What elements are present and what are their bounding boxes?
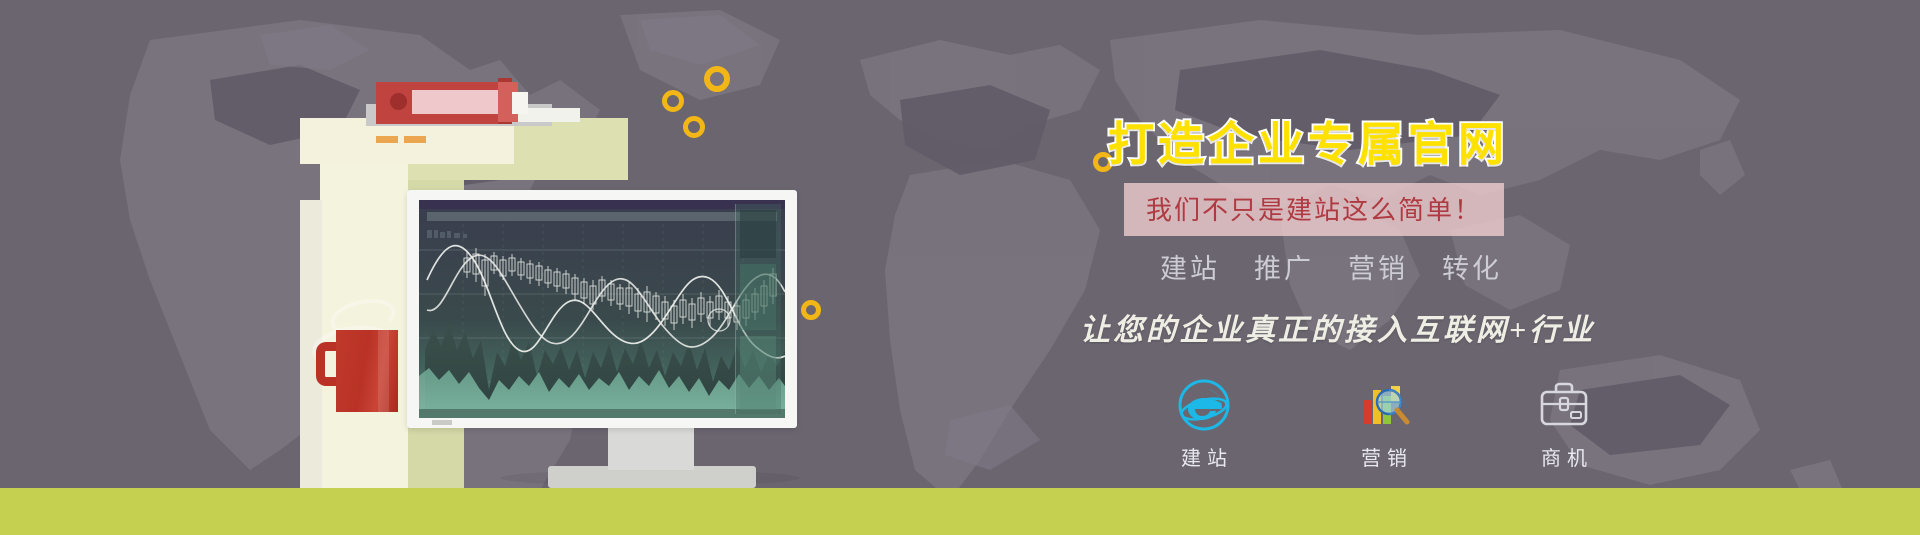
- keyword-jianzhan: 建站: [1160, 247, 1220, 286]
- monitor-side-panel-mid: [740, 264, 776, 330]
- chart-magnifier-icon: [1357, 378, 1411, 432]
- binder-paper-edge: [512, 92, 528, 114]
- red-binder-label: [412, 90, 498, 114]
- monitor-side-panel-bottom: [740, 336, 776, 410]
- monitor-side-panel-top: [740, 210, 776, 258]
- subtitle-bar: 我们不只是建站这么简单！: [1124, 183, 1504, 236]
- red-binder-ring-dot: [390, 93, 407, 110]
- decor-ring-4: [801, 300, 821, 320]
- monitor-screen: [419, 200, 785, 418]
- subtitle-text: 我们不只是建站这么简单！: [1146, 195, 1482, 225]
- page-title: 打造企业专属官网: [1108, 108, 1508, 174]
- promo-banner: 打造企业专属官网 打造企业专属官网 我们不只是建站这么简单！ 建站 推广 营销 …: [0, 0, 1920, 535]
- tagline: 让您的企业真正的接入互联网+行业: [1080, 305, 1595, 349]
- decor-ring-2: [662, 90, 684, 112]
- monitor-neck: [608, 422, 694, 470]
- feature-label-jianzhan: 建站: [1175, 442, 1233, 471]
- monitor-led: [432, 420, 452, 425]
- ground-strip: [0, 488, 1920, 535]
- feature-item-yingxiao[interactable]: 营销: [1330, 378, 1438, 471]
- stock-chart-svg: [419, 200, 785, 418]
- internet-explorer-icon: [1177, 378, 1231, 432]
- feature-item-jianzhan[interactable]: 建站: [1150, 378, 1258, 471]
- mug-highlight: [378, 330, 389, 412]
- feature-item-shangji[interactable]: 商机: [1510, 378, 1618, 471]
- keyword-tuiguang: 推广: [1254, 247, 1314, 286]
- world-map-background: [0, 0, 1920, 535]
- keyword-row: 建站 推广 营销 转化: [1160, 247, 1502, 286]
- keyword-zhuanhua: 转化: [1442, 247, 1502, 286]
- feature-label-shangji: 商机: [1535, 442, 1593, 471]
- decor-ring-3: [683, 116, 705, 138]
- briefcase-icon: [1537, 378, 1591, 432]
- feature-icon-row: 建站 营销: [1150, 378, 1618, 471]
- decor-ring-1: [704, 66, 730, 92]
- feature-label-yingxiao: 营销: [1355, 442, 1413, 471]
- keyword-yingxiao: 营销: [1348, 247, 1408, 286]
- folder-tab-left: [376, 136, 398, 143]
- folder-tab-right: [404, 136, 426, 143]
